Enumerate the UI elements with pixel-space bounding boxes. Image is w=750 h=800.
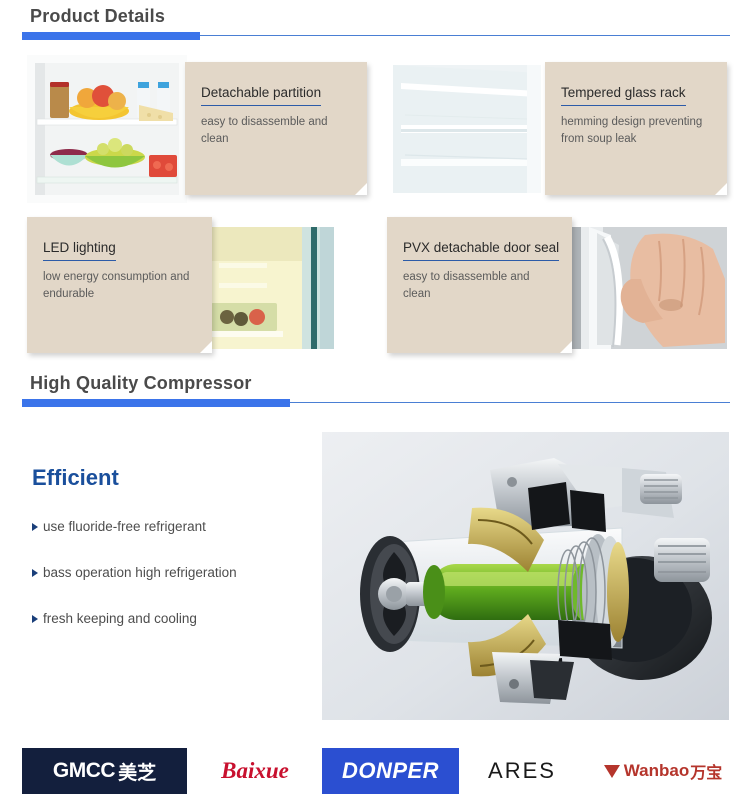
brand-logo-ares: ARES xyxy=(474,748,570,794)
feature-card-image xyxy=(567,227,727,349)
brand-logo-wanbao-label: Wanbao xyxy=(624,761,689,781)
triangle-bullet-icon xyxy=(32,615,38,623)
section-title: High Quality Compressor xyxy=(0,373,750,394)
brand-logo-baixue: Baixue xyxy=(195,748,315,794)
feature-card-text-panel: Detachable partition easy to disassemble… xyxy=(185,62,367,195)
brand-logo-strip: GMCC美芝 Baixue DONPER ARES Wanbao万宝 xyxy=(0,748,750,794)
efficient-feature-list: Efficient use fluoride-free refrigerant … xyxy=(32,465,322,657)
brand-logo-donper: DONPER xyxy=(322,748,459,794)
section-divider xyxy=(0,399,750,408)
section-header-high-quality-compressor: High Quality Compressor xyxy=(0,373,750,408)
brand-logo-gmcc: GMCC美芝 xyxy=(22,748,187,794)
corner-fold xyxy=(355,183,367,195)
corner-fold xyxy=(200,341,212,353)
refrigerator-interior-icon xyxy=(27,55,187,203)
cutaway-compressor-icon xyxy=(322,432,729,720)
compressor-image xyxy=(322,432,729,720)
feature-card-image xyxy=(207,227,334,349)
brand-logo-baixue-label: Baixue xyxy=(221,758,289,784)
feature-card-text-panel: Tempered glass rack hemming design preve… xyxy=(545,62,727,195)
feature-card-text-panel: PVX detachable door seal easy to disasse… xyxy=(387,217,572,353)
feature-card-description: low energy consumption and endurable xyxy=(43,269,198,302)
brand-logo-wanbao: Wanbao万宝 xyxy=(588,748,738,794)
feature-card-heading: Detachable partition xyxy=(201,85,321,106)
list-item-label: bass operation high refrigeration xyxy=(43,565,237,580)
feature-card-description: hemming design preventing from soup leak xyxy=(561,114,713,147)
corner-fold xyxy=(715,183,727,195)
efficient-title: Efficient xyxy=(32,465,322,491)
brand-logo-ares-label: ARES xyxy=(488,758,556,784)
triangle-bullet-icon xyxy=(32,523,38,531)
section-header-product-details: Product Details xyxy=(0,6,750,41)
brand-logo-gmcc-label: GMCC xyxy=(53,759,115,783)
feature-card-image xyxy=(387,55,547,203)
section-divider xyxy=(0,32,750,41)
lit-fridge-interior-icon xyxy=(207,227,334,349)
feature-card-heading: PVX detachable door seal xyxy=(403,240,559,261)
feature-card-heading: LED lighting xyxy=(43,240,116,261)
page-title: Product Details xyxy=(0,6,750,27)
feature-card-image xyxy=(27,55,187,203)
triangle-bullet-icon xyxy=(32,569,38,577)
feature-card-text-panel: LED lighting low energy consumption and … xyxy=(27,217,212,353)
list-item: bass operation high refrigeration xyxy=(32,565,322,580)
feature-card-heading: Tempered glass rack xyxy=(561,85,686,106)
hand-door-seal-icon xyxy=(567,227,727,349)
list-item-label: use fluoride-free refrigerant xyxy=(43,519,206,534)
feature-card-description: easy to disassemble and clean xyxy=(403,269,558,302)
brand-logo-donper-label: DONPER xyxy=(342,758,439,784)
triangle-mark-icon xyxy=(604,765,620,778)
glass-shelves-icon xyxy=(387,55,547,203)
corner-fold xyxy=(560,341,572,353)
divider-accent-bar xyxy=(22,32,200,40)
feature-card-description: easy to disassemble and clean xyxy=(201,114,353,147)
list-item: use fluoride-free refrigerant xyxy=(32,519,322,534)
list-item-label: fresh keeping and cooling xyxy=(43,611,197,626)
divider-accent-bar xyxy=(22,399,290,407)
brand-logo-wanbao-cn: 万宝 xyxy=(690,759,722,783)
list-item: fresh keeping and cooling xyxy=(32,611,322,626)
brand-logo-gmcc-cn: 美芝 xyxy=(118,758,156,785)
